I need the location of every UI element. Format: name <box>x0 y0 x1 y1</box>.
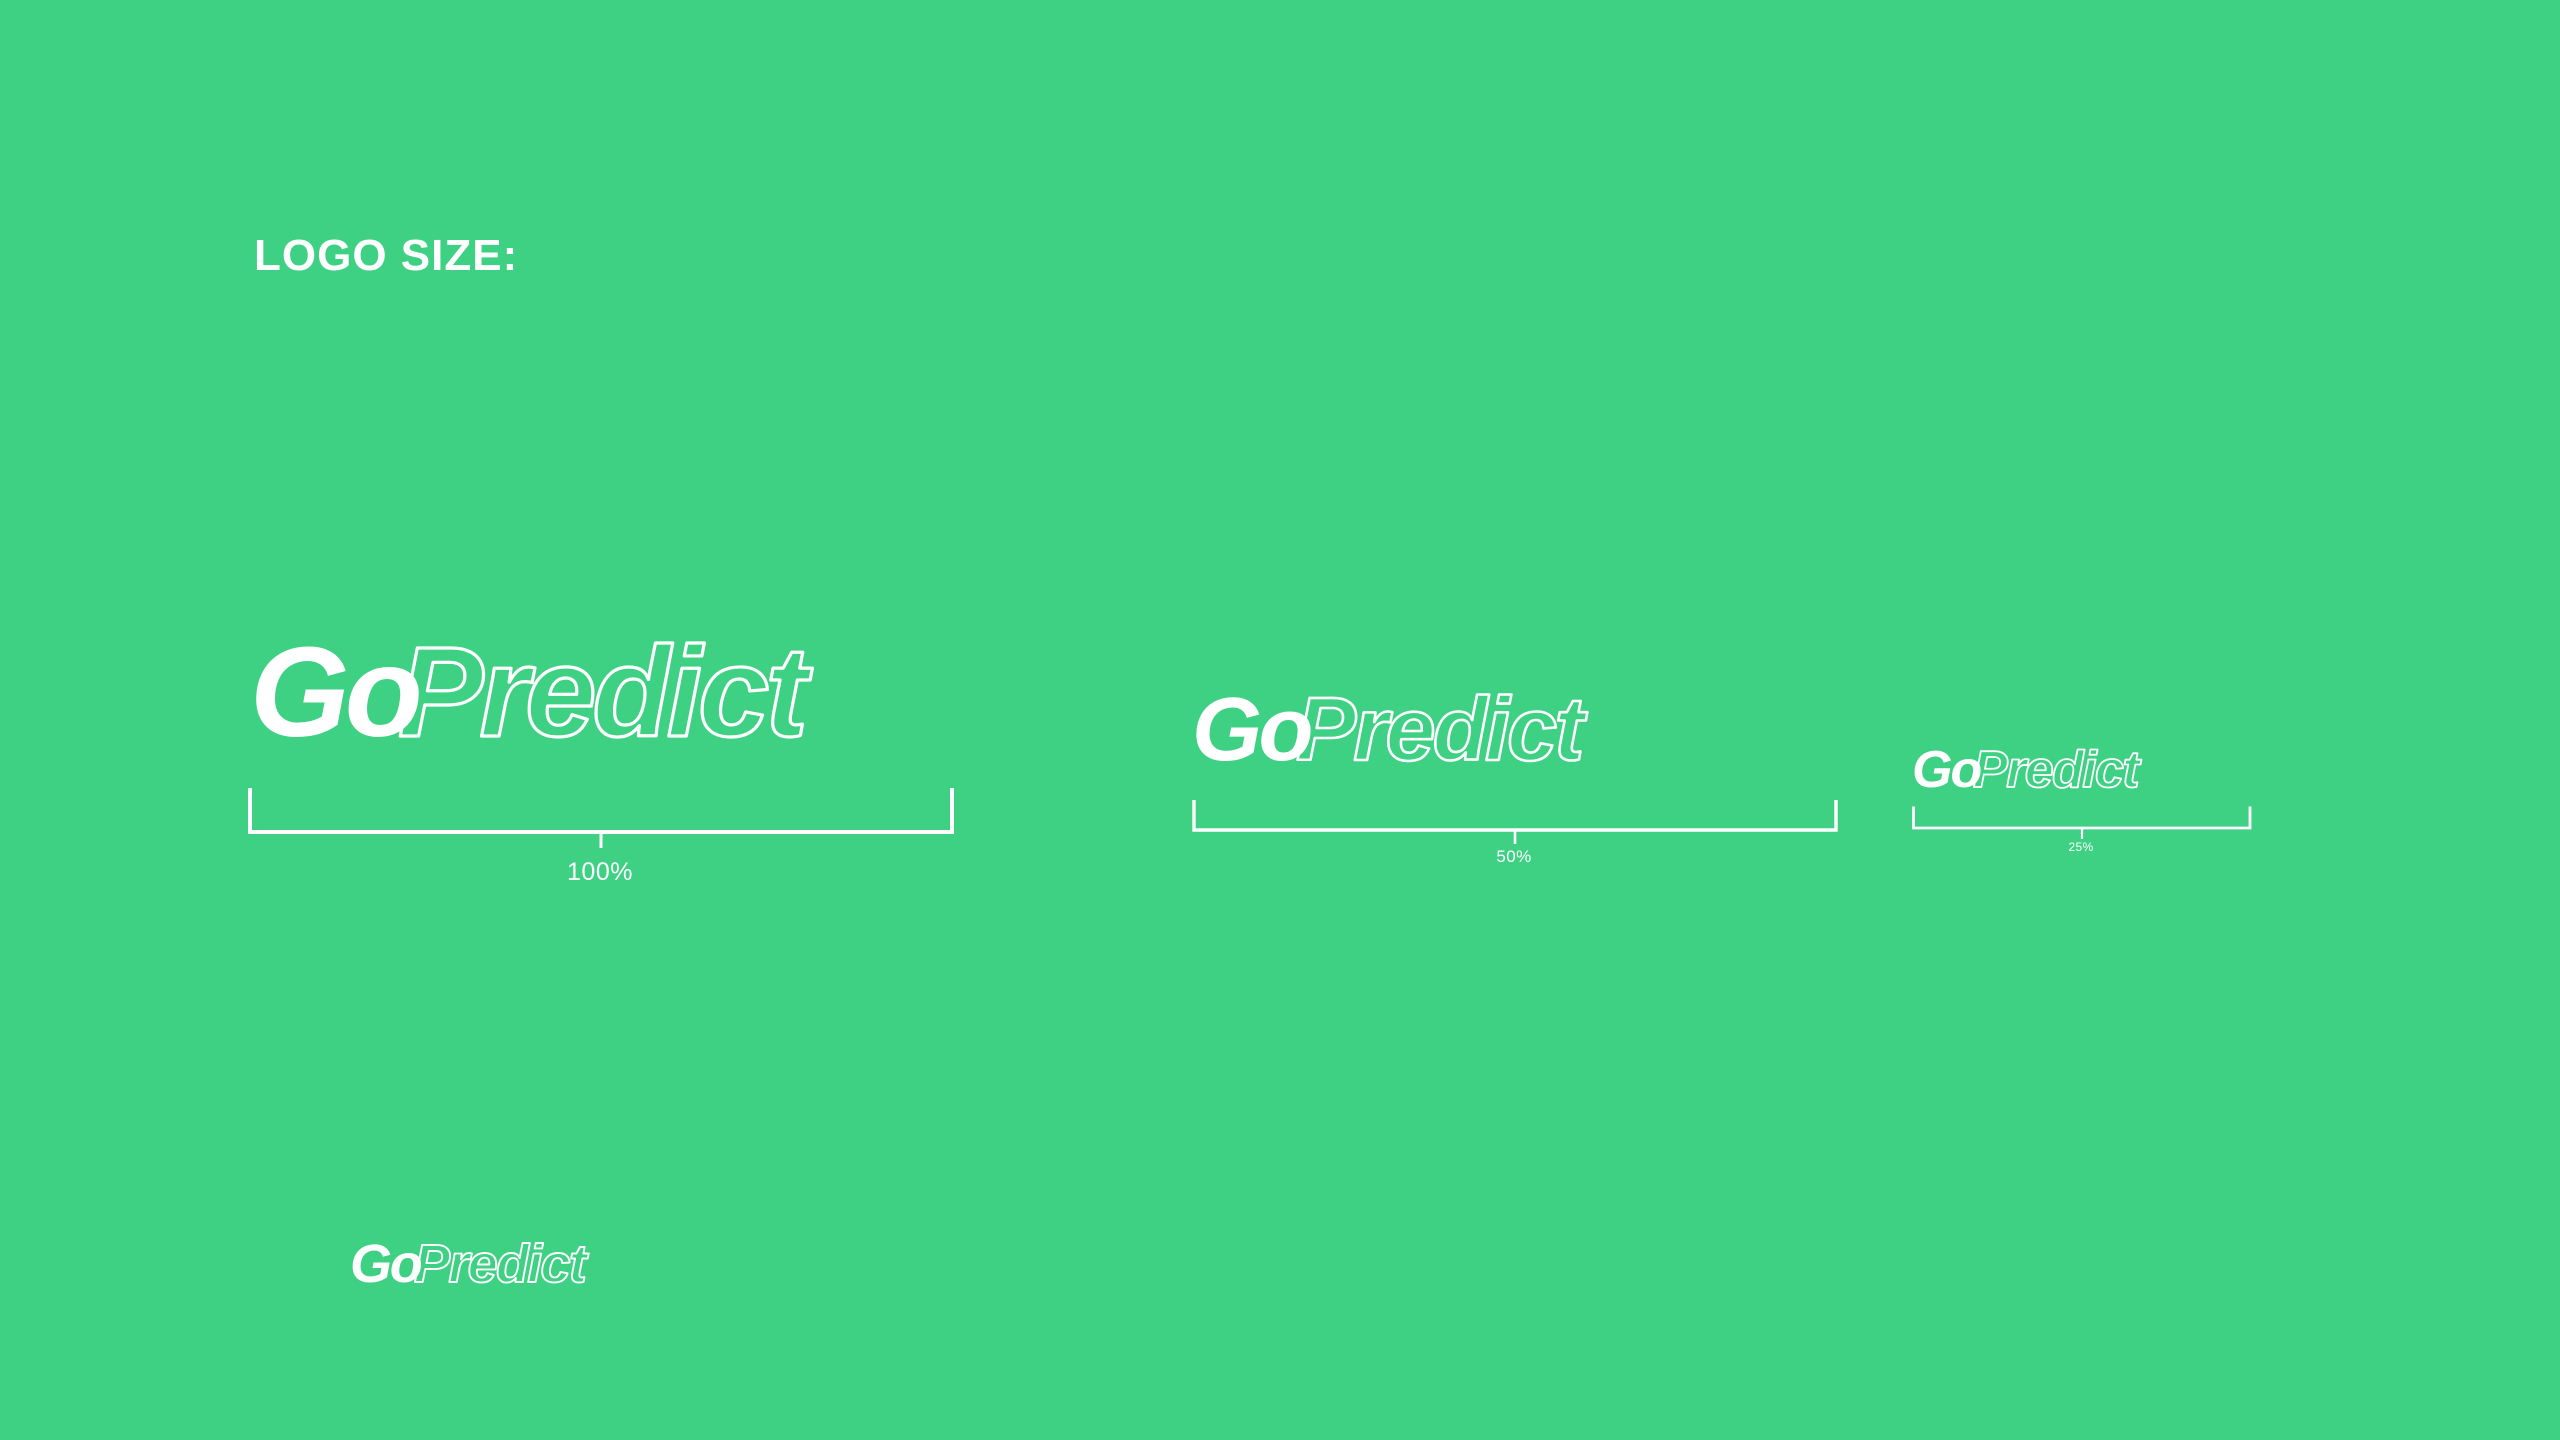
measure-label-100: 100% <box>248 860 952 885</box>
logo-outline-text: Predict <box>1973 741 2142 799</box>
logo-solid-text: Go <box>250 621 420 764</box>
bracket-shape-25 <box>1912 805 2252 839</box>
measure-label-50: 50% <box>1192 848 1836 865</box>
bracket-shape-100 <box>248 786 954 848</box>
logo-lockup-100: Go Predict <box>250 638 950 768</box>
page-title: LOGO SIZE: <box>254 234 518 278</box>
logo-mark-25: Go Predict <box>1912 745 2262 801</box>
footer-logo: Go Predict <box>350 1238 690 1296</box>
logo-mark-50: Go Predict <box>1192 690 1852 782</box>
logo-outline-text: Predict <box>414 1234 589 1294</box>
logo-solid-text: Go <box>1912 741 1981 799</box>
measure-bracket-50: 50% <box>1192 798 1838 844</box>
logo-solid-text: Go <box>350 1234 422 1294</box>
bracket-u-path <box>1914 807 2251 829</box>
logo-outline-text: Predict <box>1296 680 1588 780</box>
measure-bracket-25: 25% <box>1912 805 2252 839</box>
bracket-u-path <box>1194 800 1836 830</box>
logo-mark-100: Go Predict <box>250 638 950 768</box>
bracket-u-path <box>250 788 952 832</box>
measure-label-25: 25% <box>1912 841 2250 853</box>
logo-solid-text: Go <box>1192 680 1312 780</box>
measure-bracket-100: 100% <box>248 786 954 848</box>
logo-lockup-25: Go Predict <box>1912 745 2262 801</box>
logo-mark-footer: Go Predict <box>350 1238 690 1296</box>
bracket-shape-50 <box>1192 798 1838 844</box>
brand-guideline-page: LOGO SIZE: Go Predict 100% Go Predict 50… <box>0 0 2560 1440</box>
logo-outline-text: Predict <box>398 621 812 764</box>
logo-lockup-50: Go Predict <box>1192 690 1852 782</box>
